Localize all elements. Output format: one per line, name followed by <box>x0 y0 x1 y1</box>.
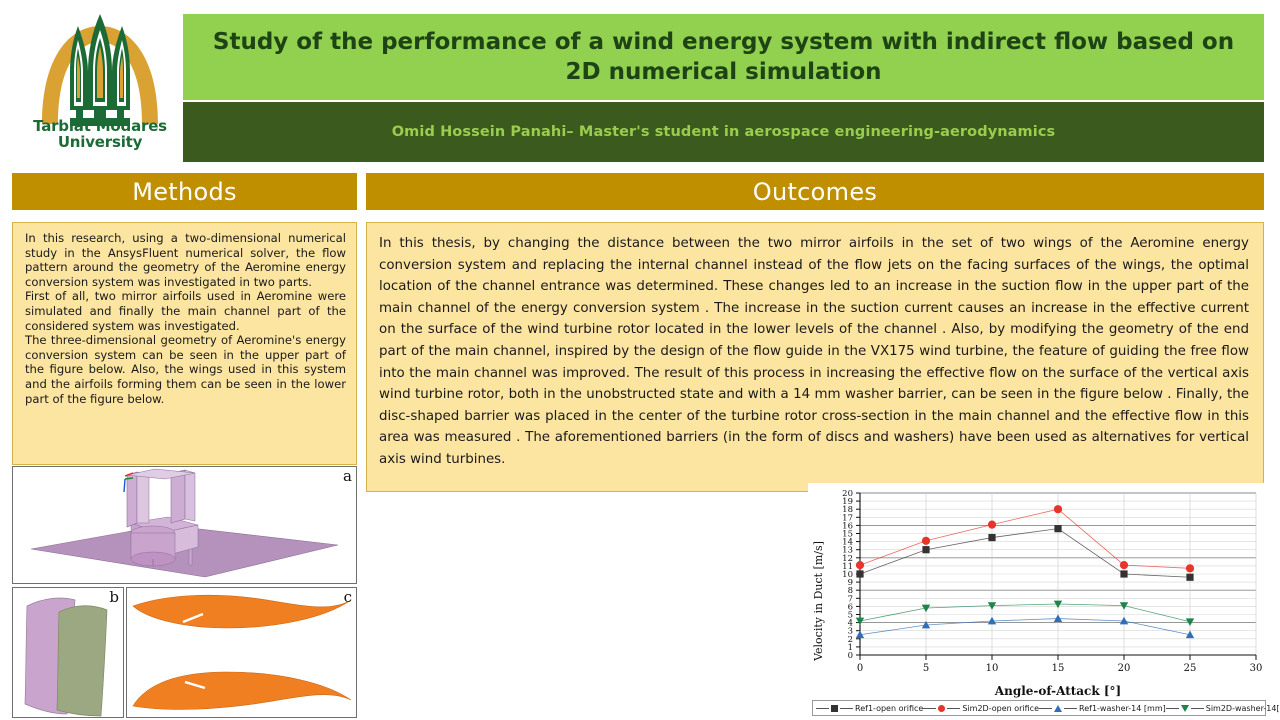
legend-item-2: Ref1-washer-14 [mm] <box>1039 704 1166 713</box>
svg-text:5: 5 <box>923 663 929 674</box>
legend-label-2: Ref1-washer-14 [mm] <box>1079 704 1166 713</box>
poster-title: Study of the performance of a wind energ… <box>183 27 1264 87</box>
section-title-outcomes: Outcomes <box>753 178 877 206</box>
svg-text:20: 20 <box>1118 663 1131 674</box>
legend-line-3 <box>1166 708 1179 709</box>
cad-model-aeromine-icon <box>13 467 356 583</box>
legend-item-0: Ref1-open orifice <box>816 704 923 713</box>
chart-gridlines <box>860 493 1256 655</box>
legend-label-0: Ref1-open orifice <box>855 704 923 713</box>
legend-marker-square-icon <box>831 705 838 712</box>
methods-paragraph-1: In this research, using a two-dimensiona… <box>25 231 346 289</box>
legend-label-1: Sim2D-open orifice <box>962 704 1039 713</box>
logo-wordmark: Tarbiat Modares University <box>20 118 180 150</box>
section-title-methods: Methods <box>132 178 237 206</box>
section-header-methods: Methods <box>12 173 357 210</box>
university-logo: Tarbiat Modares University <box>20 6 180 164</box>
legend-item-1: Sim2D-open orifice <box>923 704 1039 713</box>
chart-x-tick-labels: 051015202530 <box>857 655 1263 674</box>
methods-paragraph-3: The three-dimensional geometry of Aeromi… <box>25 333 346 406</box>
legend-label-3: Sim2D-washer-14[mm] <box>1206 704 1280 713</box>
chart-legend: Ref1-open orifice Sim2D-open orifice Ref… <box>812 700 1266 716</box>
legend-line-1b <box>947 708 960 709</box>
figure-tag-a: a <box>343 467 352 485</box>
svg-text:10: 10 <box>986 663 999 674</box>
svg-text:30: 30 <box>1250 663 1263 674</box>
airfoil-pair-icon <box>127 588 356 717</box>
svg-text:15: 15 <box>1052 663 1065 674</box>
logo-line-1: Tarbiat Modares <box>20 118 180 134</box>
svg-text:0: 0 <box>857 663 863 674</box>
legend-line-2 <box>1039 708 1052 709</box>
figure-panel-a: a <box>12 466 357 584</box>
poster-header: Tarbiat Modares University Study of the … <box>0 0 1280 168</box>
outcomes-text-panel: In this thesis, by changing the distance… <box>366 222 1264 492</box>
logo-line-2: University <box>20 134 180 150</box>
chart-y-axis-label: Velocity in Duct [m/s] <box>812 541 825 662</box>
poster-root: Tarbiat Modares University Study of the … <box>0 0 1280 720</box>
figure-panel-b: b <box>12 587 124 718</box>
outcomes-paragraph: In this thesis, by changing the distance… <box>379 233 1249 471</box>
legend-item-3: Sim2D-washer-14[mm] <box>1166 704 1280 713</box>
figure-tag-c: c <box>344 588 352 606</box>
legend-line-0 <box>816 708 829 709</box>
figure-tag-b: b <box>109 588 119 606</box>
poster-title-bar: Study of the performance of a wind energ… <box>183 14 1264 100</box>
figure-panel-c: c <box>126 587 357 718</box>
svg-text:25: 25 <box>1184 663 1197 674</box>
legend-line-1 <box>923 708 936 709</box>
methods-text-panel: In this research, using a two-dimensiona… <box>12 222 357 465</box>
poster-author-bar: Omid Hossein Panahi– Master's student in… <box>183 102 1264 162</box>
wing-pair-icon <box>13 588 123 717</box>
svg-text:20: 20 <box>842 489 853 499</box>
methods-paragraph-2: First of all, two mirror airfoils used i… <box>25 289 346 333</box>
author-line: Omid Hossein Panahi– Master's student in… <box>392 124 1056 140</box>
velocity-vs-aoa-chart: 01234567891011121314151617181920 0510152… <box>808 483 1268 720</box>
legend-line-0b <box>840 708 853 709</box>
legend-line-3b <box>1191 708 1204 709</box>
section-header-outcomes: Outcomes <box>366 173 1264 210</box>
chart-x-axis-label: Angle-of-Attack [°] <box>994 684 1121 698</box>
legend-marker-circle-icon <box>938 705 945 712</box>
legend-line-2b <box>1064 708 1077 709</box>
chart-svg: 01234567891011121314151617181920 0510152… <box>808 483 1268 701</box>
legend-marker-triangle-up-icon <box>1054 705 1062 712</box>
legend-marker-triangle-down-icon <box>1181 705 1189 712</box>
